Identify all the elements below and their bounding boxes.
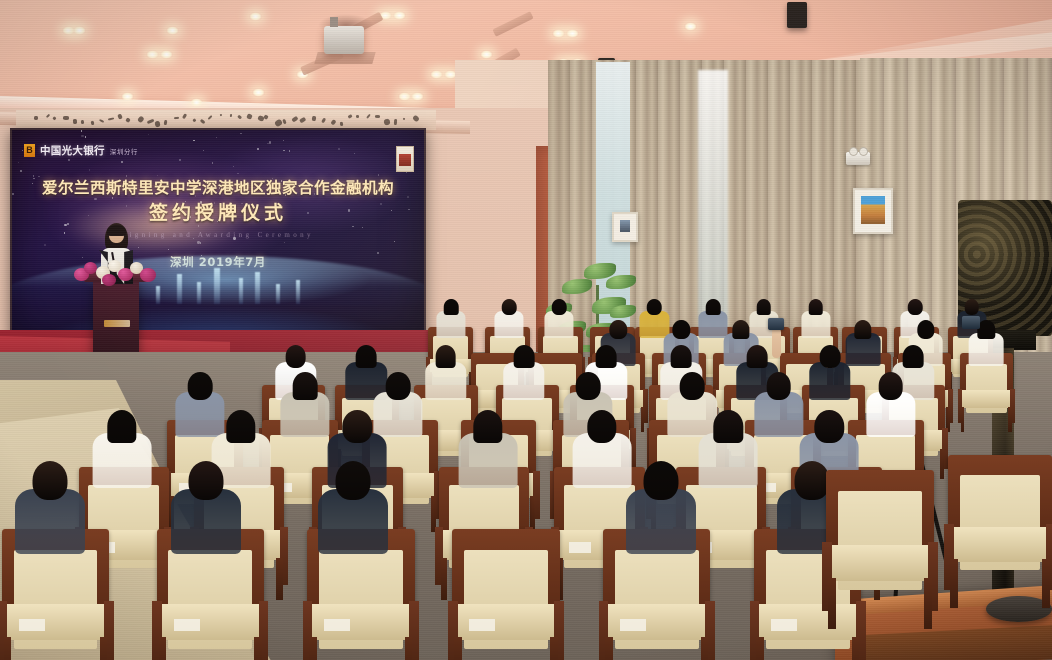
person-hair xyxy=(680,372,705,399)
skyline-building xyxy=(255,272,260,304)
emergency-light-icon xyxy=(846,152,870,165)
chair-leg xyxy=(961,407,965,432)
person-hair xyxy=(587,410,616,443)
calligraphy-stroke xyxy=(246,113,252,119)
seat-number-tag xyxy=(174,619,200,631)
chair-leg xyxy=(276,558,282,601)
skyline-building xyxy=(214,268,220,304)
calligraphy-stroke xyxy=(366,113,371,119)
audience-member xyxy=(807,339,853,397)
calligraphy-banner xyxy=(16,110,436,130)
downlight-icon xyxy=(684,22,697,31)
calligraphy-stroke xyxy=(154,121,160,128)
stage-led-screen: B 中国光大银行 深圳分行 爱尔兰西斯特里安中学深港地区独家合作金融机构 签约授… xyxy=(10,128,426,340)
person-hair xyxy=(644,461,679,500)
star-dot xyxy=(18,162,19,163)
calligraphy-stroke xyxy=(80,120,84,125)
podium-flower-arrangement xyxy=(72,258,164,288)
chair-leg xyxy=(441,558,447,601)
chair-leg xyxy=(1042,559,1049,608)
star-dot xyxy=(193,140,194,141)
star-dot xyxy=(237,173,238,174)
downlight-icon xyxy=(552,29,565,38)
star-dot xyxy=(284,242,285,243)
chair-seat xyxy=(600,604,714,640)
calligraphy-stroke xyxy=(340,122,343,126)
seat-number-tag xyxy=(19,619,45,631)
chair-leg xyxy=(254,637,262,660)
podium-logo xyxy=(104,320,130,327)
screen-subtitle-en: Signing and Awarding Ceremony xyxy=(12,231,424,239)
chair-leg xyxy=(4,637,12,660)
artwork-image xyxy=(861,196,885,224)
skyline-building xyxy=(239,278,243,304)
calligraphy-stroke xyxy=(383,118,390,125)
audience-member xyxy=(167,451,245,549)
bank-mark-icon: B xyxy=(24,144,35,157)
calligraphy-stroke xyxy=(34,116,39,120)
person-hair xyxy=(820,345,841,368)
chair-leg xyxy=(405,637,413,660)
chair-leg xyxy=(309,637,317,660)
person-hair xyxy=(514,345,535,368)
seat-number-tag xyxy=(324,619,350,631)
star-dot xyxy=(121,161,123,163)
person-hair xyxy=(808,299,823,315)
audience-member xyxy=(455,402,520,484)
chair-seat xyxy=(823,545,937,581)
calligraphy-stroke xyxy=(291,116,298,122)
framed-picture-small xyxy=(612,212,638,242)
audience-member xyxy=(622,451,700,549)
window-daylight xyxy=(698,70,728,330)
chair-leg xyxy=(431,496,436,532)
wall-speaker-icon xyxy=(787,2,807,28)
chair-leg xyxy=(701,637,709,660)
calligraphy-stroke xyxy=(193,118,197,122)
star-dot xyxy=(283,140,284,141)
screen-title-line2: 签约授牌仪式 xyxy=(12,198,424,225)
star-dot xyxy=(212,162,213,163)
calligraphy-stroke xyxy=(125,117,131,123)
chair-leg xyxy=(605,637,613,660)
person-hair xyxy=(335,461,370,500)
audience-member xyxy=(423,339,469,397)
star-dot xyxy=(338,148,340,150)
podium xyxy=(93,278,139,358)
downlight-icon xyxy=(566,29,579,38)
person-hair xyxy=(473,410,502,443)
chair-leg xyxy=(940,449,944,479)
person-hair xyxy=(766,372,791,399)
calligraphy-stroke xyxy=(137,116,145,124)
chair-seat xyxy=(304,604,418,640)
chair-leg xyxy=(852,637,860,660)
camera-phone-icon xyxy=(768,318,784,330)
star-dot xyxy=(269,141,271,143)
photo-scene: B 中国光大银行 深圳分行 爱尔兰西斯特里安中学深港地区独家合作金融机构 签约授… xyxy=(0,0,1052,660)
plant-leaf xyxy=(606,275,636,289)
star-dot xyxy=(406,172,407,173)
star-dot xyxy=(240,133,241,134)
calligraphy-stroke xyxy=(73,119,77,124)
downlight-icon xyxy=(411,92,424,101)
person-hair xyxy=(386,372,411,399)
star-dot xyxy=(354,153,355,154)
chair-leg xyxy=(756,637,764,660)
skyline-building xyxy=(276,284,280,304)
speaker-fringe xyxy=(107,225,126,236)
calligraphy-stroke xyxy=(99,119,105,124)
person-hair xyxy=(647,299,662,315)
audience-chair xyxy=(826,470,934,620)
calligraphy-stroke xyxy=(174,116,179,118)
star-dot xyxy=(68,159,70,161)
picture-image xyxy=(620,220,630,232)
flower xyxy=(102,274,116,286)
skyline-building xyxy=(197,282,201,304)
calligraphy-stroke xyxy=(230,114,232,117)
audience-member xyxy=(863,365,918,434)
chair-leg xyxy=(454,637,462,660)
person-hair xyxy=(435,345,456,368)
person-hair xyxy=(444,299,459,315)
audience-member xyxy=(493,295,525,336)
person-hair xyxy=(713,410,742,443)
star-dot xyxy=(352,226,353,227)
star-dot xyxy=(20,170,22,172)
star-dot xyxy=(267,143,268,144)
star-dot xyxy=(85,136,86,137)
calligraphy-stroke xyxy=(182,113,187,118)
seat-number-tag xyxy=(620,619,646,631)
chair-leg xyxy=(530,496,535,532)
calligraphy-stroke xyxy=(46,114,50,118)
chair-leg xyxy=(924,578,932,629)
audience-chair xyxy=(948,455,1051,599)
chair-leg xyxy=(1008,407,1012,432)
star-dot xyxy=(362,227,363,228)
star-dot xyxy=(203,150,204,151)
person-hair xyxy=(978,320,995,339)
chair-leg xyxy=(828,578,836,629)
chair-leg xyxy=(950,559,957,608)
calligraphy-stroke xyxy=(412,114,420,122)
skyline-building xyxy=(296,280,300,304)
chair-leg xyxy=(159,637,167,660)
star-dot xyxy=(289,150,290,151)
ceiling-projector-icon xyxy=(324,26,364,54)
calligraphy-stroke xyxy=(108,117,114,120)
person-hair xyxy=(854,320,871,339)
person-hair xyxy=(756,299,771,315)
calligraphy-stroke xyxy=(90,121,93,125)
downlight-icon xyxy=(393,11,406,20)
flower xyxy=(140,268,156,282)
person-hair xyxy=(794,461,829,500)
calligraphy-stroke xyxy=(63,116,69,120)
person-hair xyxy=(706,299,721,315)
screen-title-line1: 爱尔兰西斯特里安中学深港地区独家合作金融机构 xyxy=(12,176,424,198)
person-hair xyxy=(189,461,224,500)
person-hair xyxy=(576,372,601,399)
calligraphy-stroke xyxy=(402,118,405,121)
audience-chair xyxy=(452,529,560,660)
person-hair xyxy=(502,299,517,315)
chair-leg xyxy=(641,407,645,432)
downlight-icon xyxy=(146,50,159,59)
chair-leg xyxy=(550,637,558,660)
downlight-icon xyxy=(121,92,134,101)
downlight-icon xyxy=(249,12,262,21)
person-hair xyxy=(908,299,923,315)
downlight-icon xyxy=(430,70,443,79)
framed-artwork xyxy=(853,188,893,234)
star-dot xyxy=(283,150,284,151)
person-hair xyxy=(293,372,318,399)
seat-number-tag xyxy=(771,619,797,631)
person-hair xyxy=(226,410,255,443)
school-crest-icon xyxy=(396,146,414,172)
seat-number-tag xyxy=(469,619,495,631)
star-dot xyxy=(89,169,90,170)
calligraphy-stroke xyxy=(321,118,327,124)
audience-member xyxy=(89,402,154,484)
bank-branch-label: 深圳分行 xyxy=(110,146,138,156)
star-dot xyxy=(81,135,83,137)
calligraphy-stroke xyxy=(348,114,353,118)
person-hair xyxy=(732,320,749,339)
audience-member xyxy=(696,402,761,484)
calligraphy-stroke xyxy=(52,116,56,120)
calligraphy-stroke xyxy=(164,120,168,126)
star-dot xyxy=(44,244,46,246)
bank-name-label: 中国光大银行 xyxy=(40,143,105,158)
chair-leg xyxy=(100,637,108,660)
downlight-icon xyxy=(73,26,86,35)
person-hair xyxy=(609,320,626,339)
star-dot xyxy=(216,137,217,138)
calligraphy-stroke xyxy=(282,119,287,125)
person-hair xyxy=(878,372,903,399)
calligraphy-stroke xyxy=(375,115,380,118)
calligraphy-stroke xyxy=(312,115,316,120)
calligraphy-stroke xyxy=(147,119,154,124)
person-hair xyxy=(188,372,213,399)
calligraphy-stroke xyxy=(117,113,123,119)
downlight-icon xyxy=(252,88,265,97)
calligraphy-stroke xyxy=(330,119,337,126)
downlight-icon xyxy=(398,92,411,101)
star-dot xyxy=(233,166,234,167)
person-hair xyxy=(815,410,844,443)
calligraphy-stroke xyxy=(394,119,397,125)
calligraphy-stroke xyxy=(299,116,306,122)
audience-member xyxy=(314,451,392,549)
calligraphy-stroke xyxy=(356,115,359,118)
calligraphy-stroke xyxy=(200,118,206,124)
audience-member xyxy=(543,295,575,336)
audience-member xyxy=(501,339,547,397)
chair-seat xyxy=(958,390,1015,408)
downlight-icon xyxy=(160,50,173,59)
downlight-icon xyxy=(190,98,203,107)
camera-phone-icon xyxy=(962,316,980,329)
person-hair xyxy=(964,299,979,315)
person-hair xyxy=(552,299,567,315)
audience-member xyxy=(12,451,90,549)
chair-seat xyxy=(0,604,112,640)
audience-member xyxy=(800,295,832,336)
seat-number-tag xyxy=(569,542,591,552)
person-hair xyxy=(107,410,136,443)
calligraphy-stroke xyxy=(220,114,223,117)
chair-seat xyxy=(153,604,267,640)
chair-seat xyxy=(945,527,1052,562)
person-hair xyxy=(673,320,690,339)
downlight-icon xyxy=(166,26,179,35)
skyline-building xyxy=(156,286,160,304)
star-dot xyxy=(179,159,181,161)
audience-member xyxy=(435,295,467,336)
plant-leaf xyxy=(562,279,592,294)
downlight-icon xyxy=(480,50,493,59)
bank-logo: B 中国光大银行 深圳分行 xyxy=(24,143,138,158)
skyline-building xyxy=(177,274,182,304)
calligraphy-stroke xyxy=(208,115,213,120)
person-hair xyxy=(917,320,934,339)
star-dot xyxy=(394,241,395,242)
star-dot xyxy=(257,148,258,149)
person-hair xyxy=(33,461,68,500)
star-dot xyxy=(197,241,199,243)
calligraphy-stroke xyxy=(237,114,242,119)
star-dot xyxy=(81,130,82,131)
raised-arm xyxy=(772,328,781,358)
chair-seat xyxy=(449,604,563,640)
star-dot xyxy=(148,134,149,135)
person-hair xyxy=(343,410,372,443)
